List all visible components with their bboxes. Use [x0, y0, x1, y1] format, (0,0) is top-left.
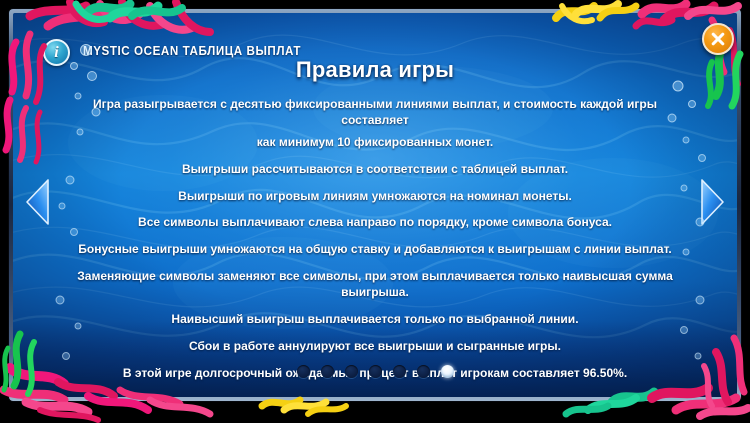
pagination-dot-5[interactable]: [393, 365, 406, 378]
rule-item: Все символы выплачивают слева направо по…: [65, 215, 686, 231]
rule-item: Выигрыши рассчитываются в соответствии с…: [65, 162, 686, 178]
water-caustics: [13, 13, 737, 397]
titlebar: i MYSTIC OCEAN ТАБЛИЦА ВЫПЛАТ: [13, 13, 737, 55]
rule-item: как минимум 10 фиксированных монет.: [65, 135, 686, 151]
rule-item: Игра разыгрывается с десятью фиксированн…: [65, 97, 686, 129]
chevron-right-icon: [696, 178, 726, 226]
next-page-arrow[interactable]: [696, 178, 726, 226]
panel-vignette: [13, 13, 737, 397]
prev-page-arrow[interactable]: [24, 178, 54, 226]
pagination-dot-2[interactable]: [321, 365, 334, 378]
rule-item: Наивысший выигрыш выплачивается только п…: [65, 312, 686, 328]
panel-bottom-shade: [13, 321, 737, 397]
page-title: Правила игры: [13, 57, 737, 83]
pagination-dot-6[interactable]: [417, 365, 430, 378]
pagination-dot-3[interactable]: [345, 365, 358, 378]
pagination-dot-1[interactable]: [297, 365, 310, 378]
rule-item: Выигрыши по игровым линиям умножаются на…: [65, 189, 686, 205]
pagination-dot-4[interactable]: [369, 365, 382, 378]
rule-item: Сбои в работе аннулируют все выигрыши и …: [65, 339, 686, 355]
info-icon[interactable]: i: [43, 39, 70, 66]
rule-item: Бонусные выигрыши умножаются на общую ст…: [65, 242, 686, 258]
info-icon-glyph: i: [54, 45, 58, 61]
rules-list: Игра разыгрывается с десятью фиксированн…: [13, 97, 737, 382]
pagination-dot-7[interactable]: [441, 365, 454, 378]
paytable-panel: i MYSTIC OCEAN ТАБЛИЦА ВЫПЛАТ Правила иг…: [13, 13, 737, 397]
rules-content: Правила игры Игра разыгрывается с десять…: [13, 13, 737, 393]
paytable-screen: i MYSTIC OCEAN ТАБЛИЦА ВЫПЛАТ Правила иг…: [0, 0, 750, 423]
close-button[interactable]: [702, 23, 734, 55]
rule-item: Заменяющие символы заменяют все символы,…: [65, 269, 686, 301]
window-title: MYSTIC OCEAN ТАБЛИЦА ВЫПЛАТ: [83, 44, 301, 58]
chevron-left-icon: [24, 178, 54, 226]
pagination: [13, 365, 737, 378]
close-icon: [710, 31, 726, 47]
